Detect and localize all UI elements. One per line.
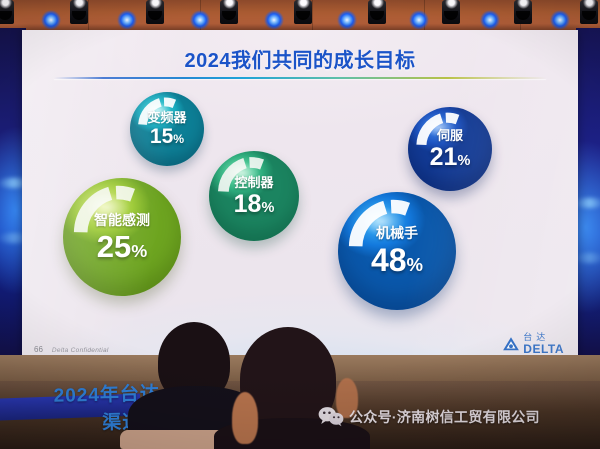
bubble-label: 机械手 (376, 226, 418, 240)
audience-hand (232, 392, 258, 444)
led-wall-right (576, 28, 600, 360)
bubble-label: 控制器 (234, 176, 273, 189)
bubble-value: 18% (234, 192, 275, 217)
bubble-value: 21% (430, 145, 471, 170)
bubble-kongzhiqi: 控制器 18% (209, 151, 299, 241)
wechat-icon (318, 406, 344, 427)
delta-logo: 台达 DELTA (502, 333, 564, 355)
title-divider (54, 77, 546, 79)
projection-screen: 2024我们共同的成长目标 变频器 15% 智能 (22, 30, 578, 360)
bubble-label: 伺服 (437, 129, 463, 142)
delta-chinese-name: 台达 (523, 333, 549, 342)
bubble-label: 智能感测 (94, 213, 150, 227)
bubble-value: 25% (97, 231, 147, 262)
bubble-jixieshou: 机械手 48% (338, 192, 456, 310)
bubble-bianpinqi: 变频器 15% (130, 92, 204, 166)
slide-footer: 66 Delta Confidential (34, 345, 109, 354)
delta-triangle-icon (502, 335, 520, 353)
bubble-label: 变频器 (147, 111, 186, 124)
slide-title: 2024我们共同的成长目标 (22, 44, 578, 73)
photo-scene: 2024我们共同的成长目标 变频器 15% 智能 (0, 0, 600, 449)
bubble-zhinenggance: 智能感测 25% (63, 178, 181, 296)
confidential-note: Delta Confidential (52, 347, 109, 354)
bubble-value: 48% (371, 244, 423, 276)
bubble-sifu: 伺服 21% (408, 107, 492, 191)
wechat-watermark: 公众号·济南树信工贸有限公司 (318, 406, 540, 427)
bubble-value: 15% (150, 126, 184, 147)
delta-wordmark: DELTA (523, 343, 564, 355)
page-number: 66 (34, 345, 43, 354)
watermark-text: 公众号·济南树信工贸有限公司 (349, 407, 540, 427)
